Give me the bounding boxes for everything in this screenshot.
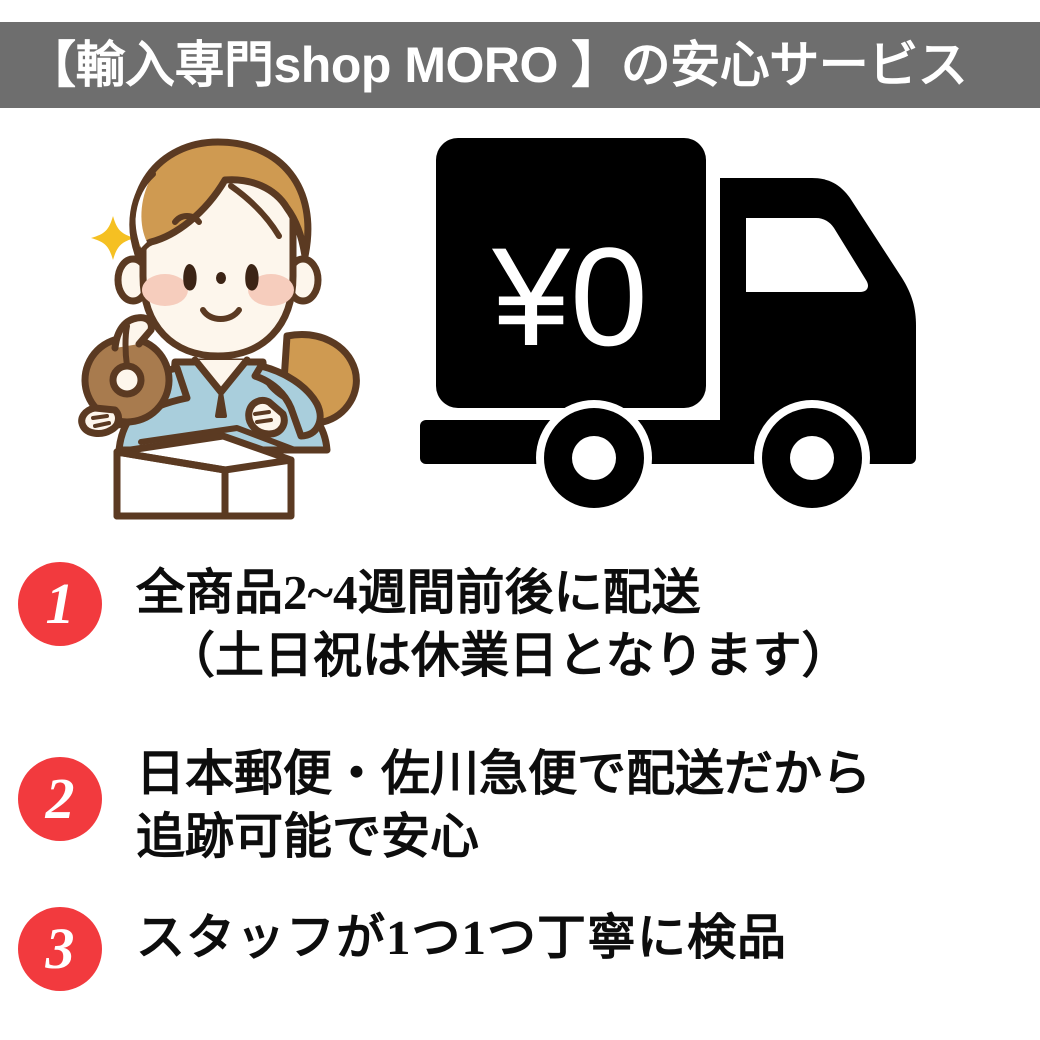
staff-woman-illustration — [55, 130, 395, 520]
feature-item-2: 2 日本郵便・佐川急便で配送だから 追跡可能で安心 — [0, 743, 1040, 868]
feature-item-1: 1 全商品2~4週間前後に配送 （土日祝は休業日となります） — [0, 562, 1040, 687]
feature-line: （土日祝は休業日となります） — [136, 625, 851, 688]
sparkle-icon — [91, 216, 135, 260]
illustration-area: ¥0 — [0, 120, 1040, 530]
feature-text-1: 全商品2~4週間前後に配送 （土日祝は休業日となります） — [136, 562, 851, 687]
feature-list: 1 全商品2~4週間前後に配送 （土日祝は休業日となります） 2 日本郵便・佐川… — [0, 548, 1040, 1040]
header-banner: 【輸入専門shop MORO 】の安心サービス — [0, 22, 1040, 108]
free-shipping-truck-illustration: ¥0 — [420, 128, 1000, 518]
feature-badge-3: 3 — [18, 907, 102, 991]
feature-text-2: 日本郵便・佐川急便で配送だから 追跡可能で安心 — [136, 743, 871, 868]
feature-line: 追跡可能で安心 — [136, 806, 871, 869]
feature-line: スタッフが1つ1つ丁寧に検品 — [136, 907, 787, 970]
truck-price-label: ¥0 — [491, 218, 648, 375]
feature-line: 全商品2~4週間前後に配送 — [136, 562, 851, 625]
feature-badge-1: 1 — [18, 562, 102, 646]
page-title: 【輸入専門shop MORO 】の安心サービス — [26, 40, 967, 90]
feature-line: 日本郵便・佐川急便で配送だから — [136, 743, 871, 806]
feature-badge-2: 2 — [18, 757, 102, 841]
feature-text-3: スタッフが1つ1つ丁寧に検品 — [136, 907, 787, 970]
feature-item-3: 3 スタッフが1つ1つ丁寧に検品 — [0, 903, 1040, 991]
